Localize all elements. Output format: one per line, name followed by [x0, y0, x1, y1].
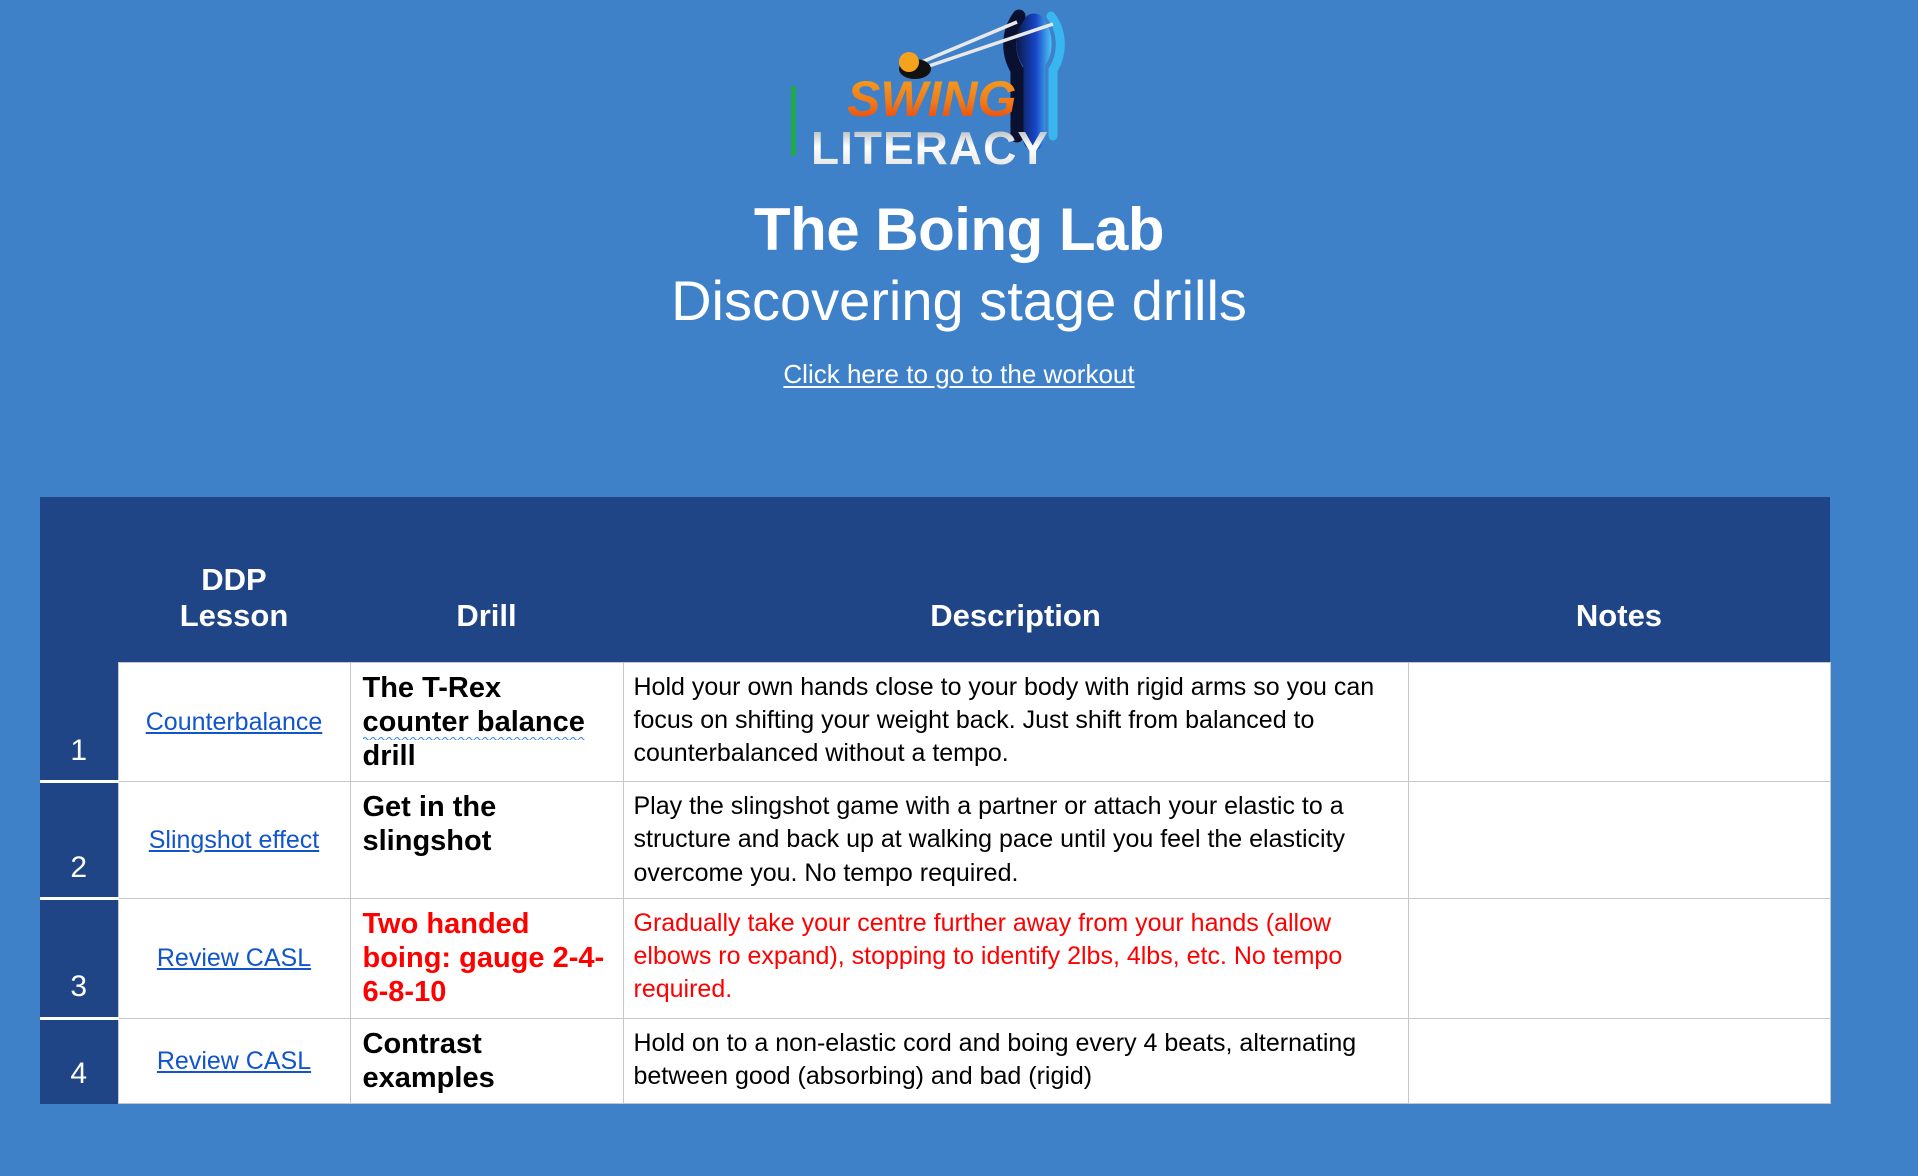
workout-link[interactable]: Click here to go to the workout [783, 359, 1134, 389]
drills-table: DDP Lesson Drill Description Notes 1 Cou… [40, 497, 1831, 1104]
column-header-ddp-line2: Lesson [118, 598, 350, 634]
table-body: 1 Counterbalance The T-Rex counter balan… [40, 662, 1830, 1104]
ddp-lesson-cell: Slingshot effect [118, 782, 350, 899]
notes-cell[interactable] [1408, 898, 1830, 1018]
svg-text:SWING: SWING [847, 71, 1016, 127]
page-subtitle: Discovering stage drills [0, 269, 1918, 333]
ddp-lesson-link[interactable]: Slingshot effect [149, 826, 319, 854]
ddp-lesson-link[interactable]: Review CASL [157, 1047, 311, 1075]
table-head: DDP Lesson Drill Description Notes [40, 497, 1830, 662]
description-cell: Hold your own hands close to your body w… [623, 662, 1408, 782]
notes-cell[interactable] [1408, 1018, 1830, 1103]
table-row: 3 Review CASL Two handed boing: gauge 2-… [40, 898, 1830, 1018]
column-header-ddp-lesson: DDP Lesson [118, 497, 350, 662]
column-header-row-number [40, 497, 118, 662]
drill-cell: Two handed boing: gauge 2-4-6-8-10 [350, 898, 623, 1018]
row-number: 2 [40, 782, 118, 899]
slingshot-icon: SWING LITERACY [789, 8, 1129, 190]
description-cell: Hold on to a non-elastic cord and boing … [623, 1018, 1408, 1103]
svg-text:LITERACY: LITERACY [811, 122, 1049, 174]
drill-text-spellcheck: counter balance [363, 706, 585, 741]
ddp-lesson-cell: Review CASL [118, 1018, 350, 1103]
notes-cell[interactable] [1408, 662, 1830, 782]
row-number: 3 [40, 898, 118, 1018]
drill-cell: Contrast examples [350, 1018, 623, 1103]
description-cell: Gradually take your centre further away … [623, 898, 1408, 1018]
column-header-ddp-line1: DDP [118, 562, 350, 598]
table-header-row: DDP Lesson Drill Description Notes [40, 497, 1830, 662]
row-number: 4 [40, 1018, 118, 1103]
page-root: SWING LITERACY The Boing Lab Discovering… [0, 0, 1918, 1176]
ddp-lesson-link[interactable]: Review CASL [157, 944, 311, 972]
drills-table-container: DDP Lesson Drill Description Notes 1 Cou… [40, 497, 1830, 1104]
swing-literacy-logo: SWING LITERACY [789, 8, 1129, 190]
table-row: 1 Counterbalance The T-Rex counter balan… [40, 662, 1830, 782]
drill-text-part1: The T-Rex [363, 672, 502, 704]
notes-cell[interactable] [1408, 782, 1830, 899]
workout-link-row: Click here to go to the workout [0, 359, 1918, 390]
column-header-drill: Drill [350, 497, 623, 662]
drill-cell: The T-Rex counter balance drill [350, 662, 623, 782]
drill-cell: Get in the slingshot [350, 782, 623, 899]
ddp-lesson-link[interactable]: Counterbalance [146, 708, 323, 736]
table-row: 4 Review CASL Contrast examples Hold on … [40, 1018, 1830, 1103]
column-header-notes: Notes [1408, 497, 1830, 662]
row-number: 1 [40, 662, 118, 782]
page-header: SWING LITERACY The Boing Lab Discovering… [0, 0, 1918, 390]
ddp-lesson-cell: Counterbalance [118, 662, 350, 782]
ddp-lesson-cell: Review CASL [118, 898, 350, 1018]
drill-text-part2: drill [363, 740, 416, 772]
column-header-description: Description [623, 497, 1408, 662]
page-title: The Boing Lab [0, 196, 1918, 263]
description-cell: Play the slingshot game with a partner o… [623, 782, 1408, 899]
table-row: 2 Slingshot effect Get in the slingshot … [40, 782, 1830, 899]
